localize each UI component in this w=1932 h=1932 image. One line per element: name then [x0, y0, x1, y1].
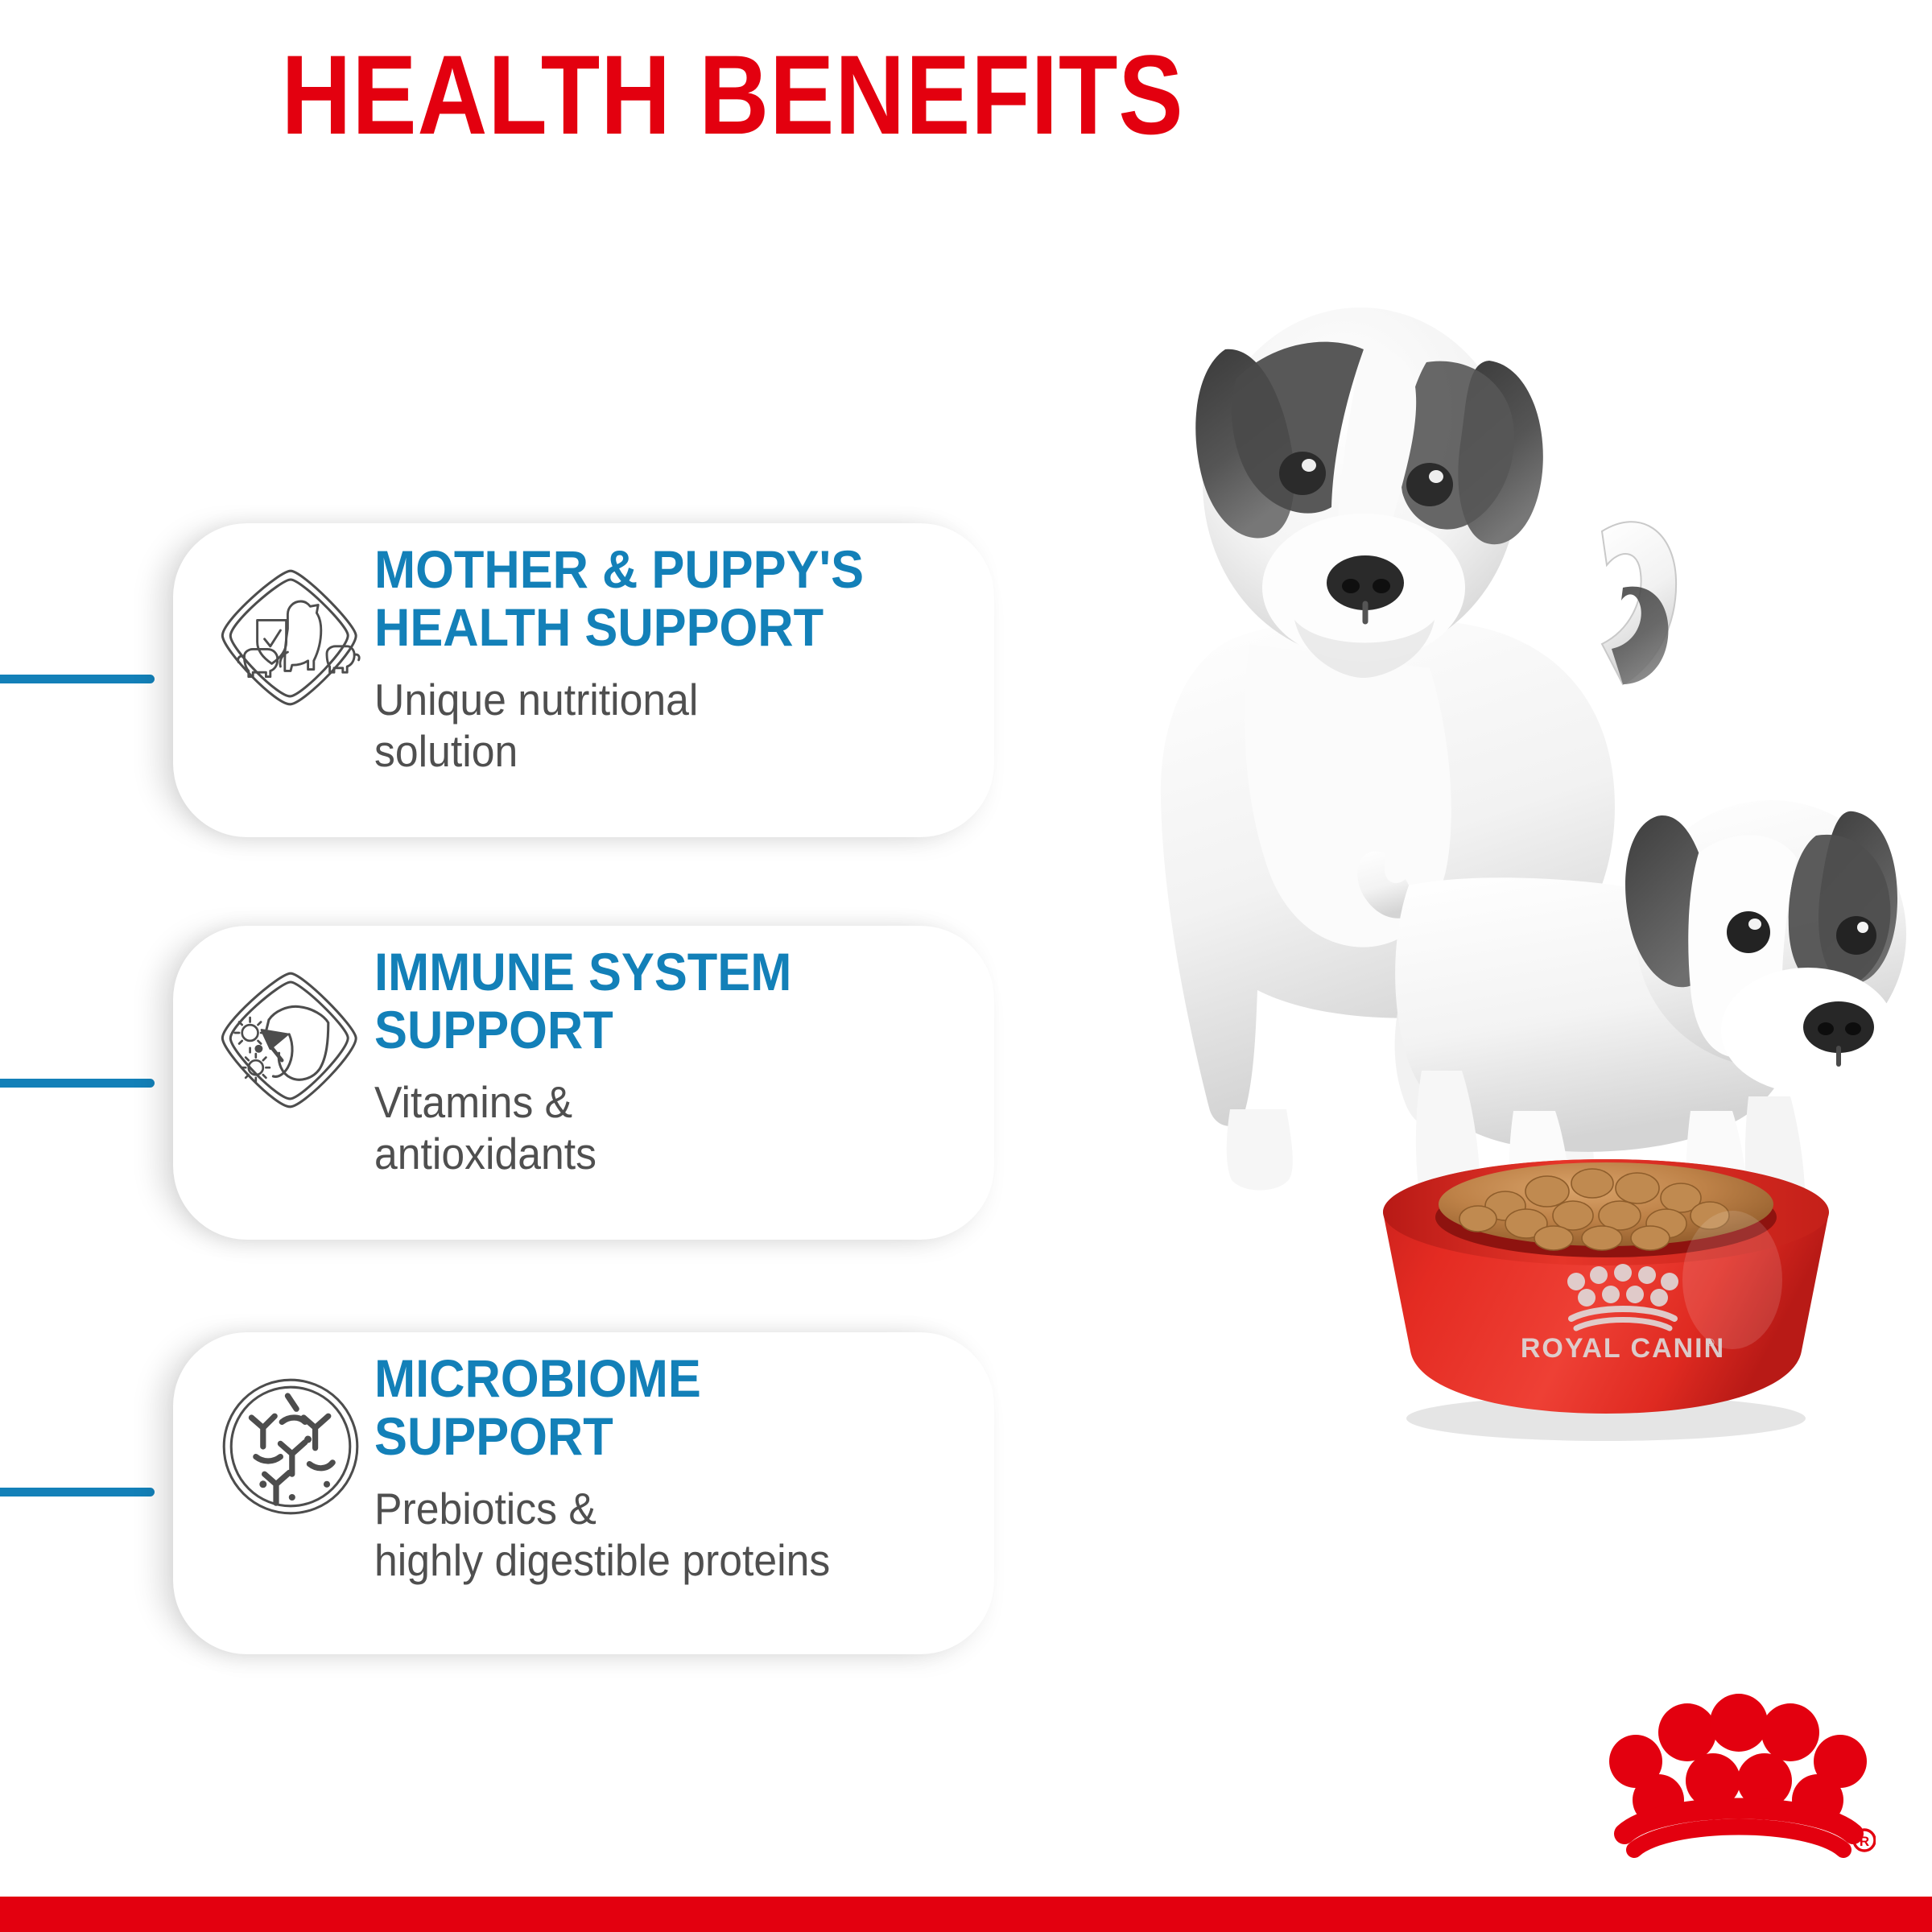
benefit-card-mother-puppy[interactable]: MOTHER & PUPPY'S HEALTH SUPPORT Unique n…: [173, 523, 994, 837]
svg-text:R: R: [1860, 1834, 1869, 1849]
bowl-wordmark: ROYAL CANIN: [1521, 1333, 1725, 1364]
benefit-heading-2: IMMUNE SYSTEM SUPPORT: [374, 943, 933, 1059]
benefit-icon-2: [173, 926, 374, 1113]
connector-line-1: [0, 675, 155, 683]
svg-text:®: ®: [1707, 1336, 1715, 1348]
benefit-heading-1: MOTHER & PUPPY'S HEALTH SUPPORT: [374, 541, 933, 657]
mother-and-puppies-shield-icon: [218, 565, 363, 710]
benefit-subtext-1: Unique nutritional solution: [374, 675, 939, 778]
footer-red-bar: [0, 1897, 1932, 1932]
benefit-icon-1: [173, 523, 374, 710]
benefit-text-3: MICROBIOME SUPPORT Prebiotics & highly d…: [374, 1332, 994, 1586]
health-benefits-page: HEALTH BENEFITS: [0, 0, 1932, 1932]
product-photo-area: ROYAL CANIN ®: [1006, 266, 1932, 1682]
benefit-card-microbiome[interactable]: MICROBIOME SUPPORT Prebiotics & highly d…: [173, 1332, 994, 1654]
benefit-card-immune-system[interactable]: IMMUNE SYSTEM SUPPORT Vitamins & antioxi…: [173, 926, 994, 1240]
benefit-text-2: IMMUNE SYSTEM SUPPORT Vitamins & antioxi…: [374, 926, 994, 1179]
benefit-heading-3: MICROBIOME SUPPORT: [374, 1350, 933, 1466]
connector-line-3: [0, 1488, 155, 1496]
microbiome-bacteria-circle-icon: [218, 1374, 363, 1519]
benefit-text-1: MOTHER & PUPPY'S HEALTH SUPPORT Unique n…: [374, 523, 994, 777]
benefit-subtext-2: Vitamins & antioxidants: [374, 1077, 939, 1180]
benefit-subtext-3: Prebiotics & highly digestible proteins: [374, 1484, 939, 1587]
royal-canin-food-bowl: ROYAL CANIN ®: [1360, 1135, 1851, 1457]
page-title: HEALTH BENEFITS: [102, 39, 1362, 151]
royal-canin-crown-logo: R: [1602, 1666, 1876, 1860]
immune-shield-germs-icon: [218, 968, 363, 1113]
connector-line-2: [0, 1079, 155, 1088]
benefit-icon-3: [173, 1332, 374, 1519]
